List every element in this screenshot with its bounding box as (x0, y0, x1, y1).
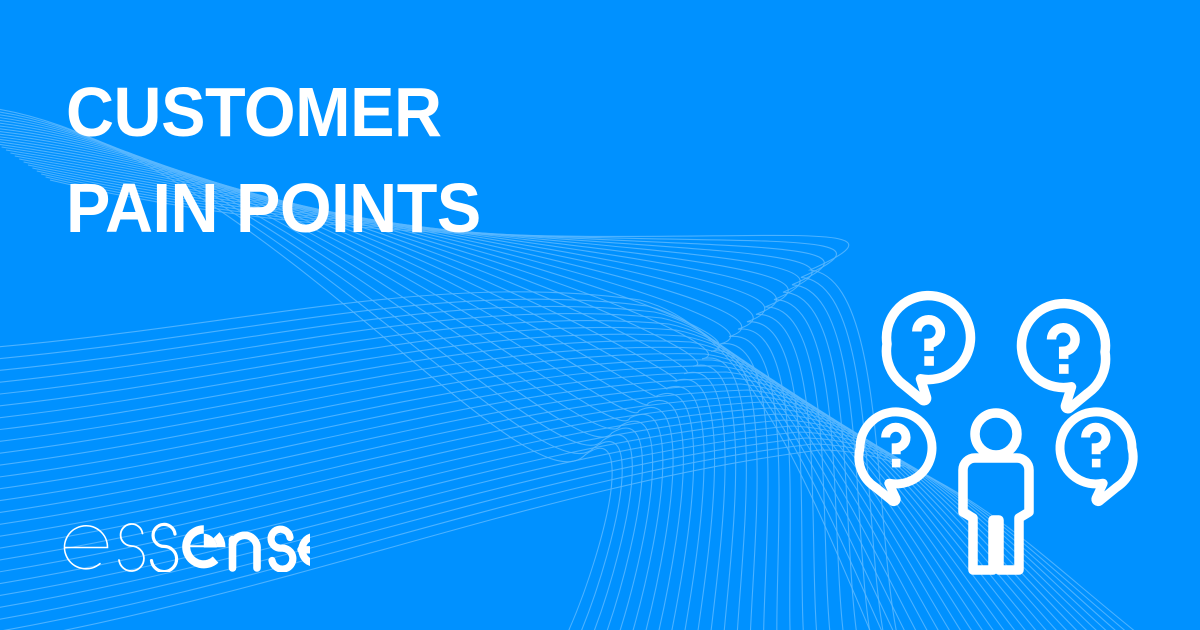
logo-letter-e-2-mark (182, 525, 225, 568)
logo-letter-e-3 (301, 536, 310, 563)
logo-letter-s-1 (119, 524, 144, 571)
logo-letter-s-2 (152, 524, 177, 571)
question-bubble-bottom-left-icon (859, 412, 932, 502)
banner-canvas: CUSTOMER PAIN POINTS (0, 0, 1200, 630)
person-icon (963, 413, 1029, 570)
background-curve (0, 341, 992, 630)
background-curve (0, 299, 913, 630)
logo-letter-n (233, 535, 258, 568)
background-curve (0, 306, 926, 630)
headline-line-1: CUSTOMER (66, 64, 481, 160)
background-curve (0, 327, 966, 630)
essense-logo (62, 520, 310, 572)
headline-line-2: PAIN POINTS (66, 160, 481, 256)
customer-questions-illustration (846, 282, 1146, 582)
background-curve (0, 334, 979, 630)
background-curve (0, 314, 940, 630)
logo-letter-e-1 (65, 526, 108, 569)
logo-letter-s-3 (271, 529, 293, 569)
question-bubble-bottom-right-icon (1060, 412, 1133, 502)
page-title: CUSTOMER PAIN POINTS (66, 64, 503, 256)
background-curve (0, 292, 900, 630)
question-bubble-top-right-icon (1021, 304, 1105, 409)
question-bubble-top-left-icon (886, 296, 970, 401)
background-curve (0, 321, 953, 630)
